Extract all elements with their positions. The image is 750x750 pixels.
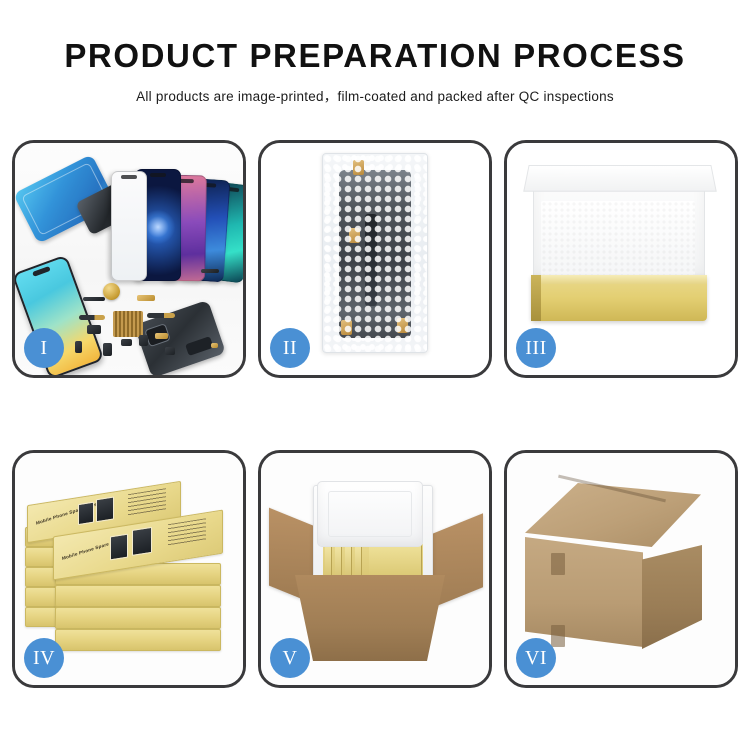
part-ic-chip xyxy=(121,339,132,346)
step-badge-6: VI xyxy=(516,638,556,678)
stacked-box-front-3 xyxy=(55,607,221,629)
tape-tab-bottom-left xyxy=(341,320,352,335)
steps-grid: I II xyxy=(12,140,738,688)
part-gold-contact xyxy=(155,333,168,339)
part-ribbon-cable xyxy=(79,315,105,320)
carton-tape-lower xyxy=(551,625,565,647)
part-tweezers xyxy=(201,269,219,273)
stacked-box-front-2 xyxy=(55,585,221,607)
box-print-phone-a xyxy=(78,502,94,526)
step-image-foam-box: III xyxy=(507,143,735,375)
carton-front-face xyxy=(525,537,643,647)
retail-box-stack: Mobile Phone Spare Parts Mobile Phone Sp… xyxy=(23,471,227,657)
part-antenna-clip xyxy=(75,341,82,353)
step-image-parts-overview: I xyxy=(15,143,243,375)
part-screw xyxy=(211,343,218,348)
box-print-phone-c xyxy=(110,534,128,561)
step-badge-1: I xyxy=(24,328,64,368)
step-badge-5: V xyxy=(270,638,310,678)
box-print-text-block-rear xyxy=(128,488,166,516)
foam-sheet xyxy=(541,201,695,283)
tape-tab-middle xyxy=(349,228,360,243)
step-badge-2: II xyxy=(270,328,310,368)
step-image-box-stack: Mobile Phone Spare Parts Mobile Phone Sp… xyxy=(15,453,243,685)
foam-cooler-lid xyxy=(317,481,423,547)
step-badge-3: III xyxy=(516,328,556,368)
part-gold-flex xyxy=(137,295,155,301)
part-connector-strip xyxy=(83,297,105,301)
yellow-mailer-tray xyxy=(531,275,707,321)
box-print-text-block-front xyxy=(168,518,206,546)
notch-icon xyxy=(150,173,166,177)
step-image-carton-packing: V xyxy=(261,453,489,685)
yellow-mailer-tray-side xyxy=(531,275,541,321)
phone-fan-group xyxy=(111,151,243,281)
tempered-glass-sheet xyxy=(111,171,147,281)
carton-tape-upper xyxy=(551,553,565,575)
part-screw-tray xyxy=(113,311,143,337)
stacked-box-front-4 xyxy=(55,629,221,651)
step-panel-1[interactable]: I xyxy=(12,140,246,378)
page-subtitle: All products are image-printed，film-coat… xyxy=(0,85,750,105)
tape-tab-top xyxy=(353,160,364,175)
step-image-bubble-wrap: II xyxy=(261,143,489,375)
box-print-phone-d xyxy=(132,527,152,556)
box-print-phone-b xyxy=(96,496,114,522)
step-panel-5[interactable]: V xyxy=(258,450,492,688)
shipping-carton-open xyxy=(295,575,445,661)
part-button-module xyxy=(139,335,148,346)
page-title: PRODUCT PREPARATION PROCESS xyxy=(0,38,750,74)
product-preparation-infographic: PRODUCT PREPARATION PROCESS All products… xyxy=(0,0,750,750)
step-panel-4[interactable]: Mobile Phone Spare Parts Mobile Phone Sp… xyxy=(12,450,246,688)
step-image-sealed-carton: VI xyxy=(507,453,735,685)
notch-icon xyxy=(121,175,137,179)
part-sim-tray xyxy=(103,343,112,356)
header: PRODUCT PREPARATION PROCESS All products… xyxy=(0,38,750,105)
part-vibrator xyxy=(165,347,175,355)
part-camera-module xyxy=(87,325,101,334)
part-speaker-coin xyxy=(103,283,120,300)
step-panel-2[interactable]: II xyxy=(258,140,492,378)
step-panel-6[interactable]: VI xyxy=(504,450,738,688)
flex-cable xyxy=(365,214,377,306)
bubble-wrap-bag xyxy=(322,153,428,353)
notch-icon xyxy=(32,266,51,277)
step-badge-4: IV xyxy=(24,638,64,678)
tape-tab-bottom-right xyxy=(397,318,408,333)
step-panel-3[interactable]: III xyxy=(504,140,738,378)
part-flex-cable xyxy=(147,313,175,318)
